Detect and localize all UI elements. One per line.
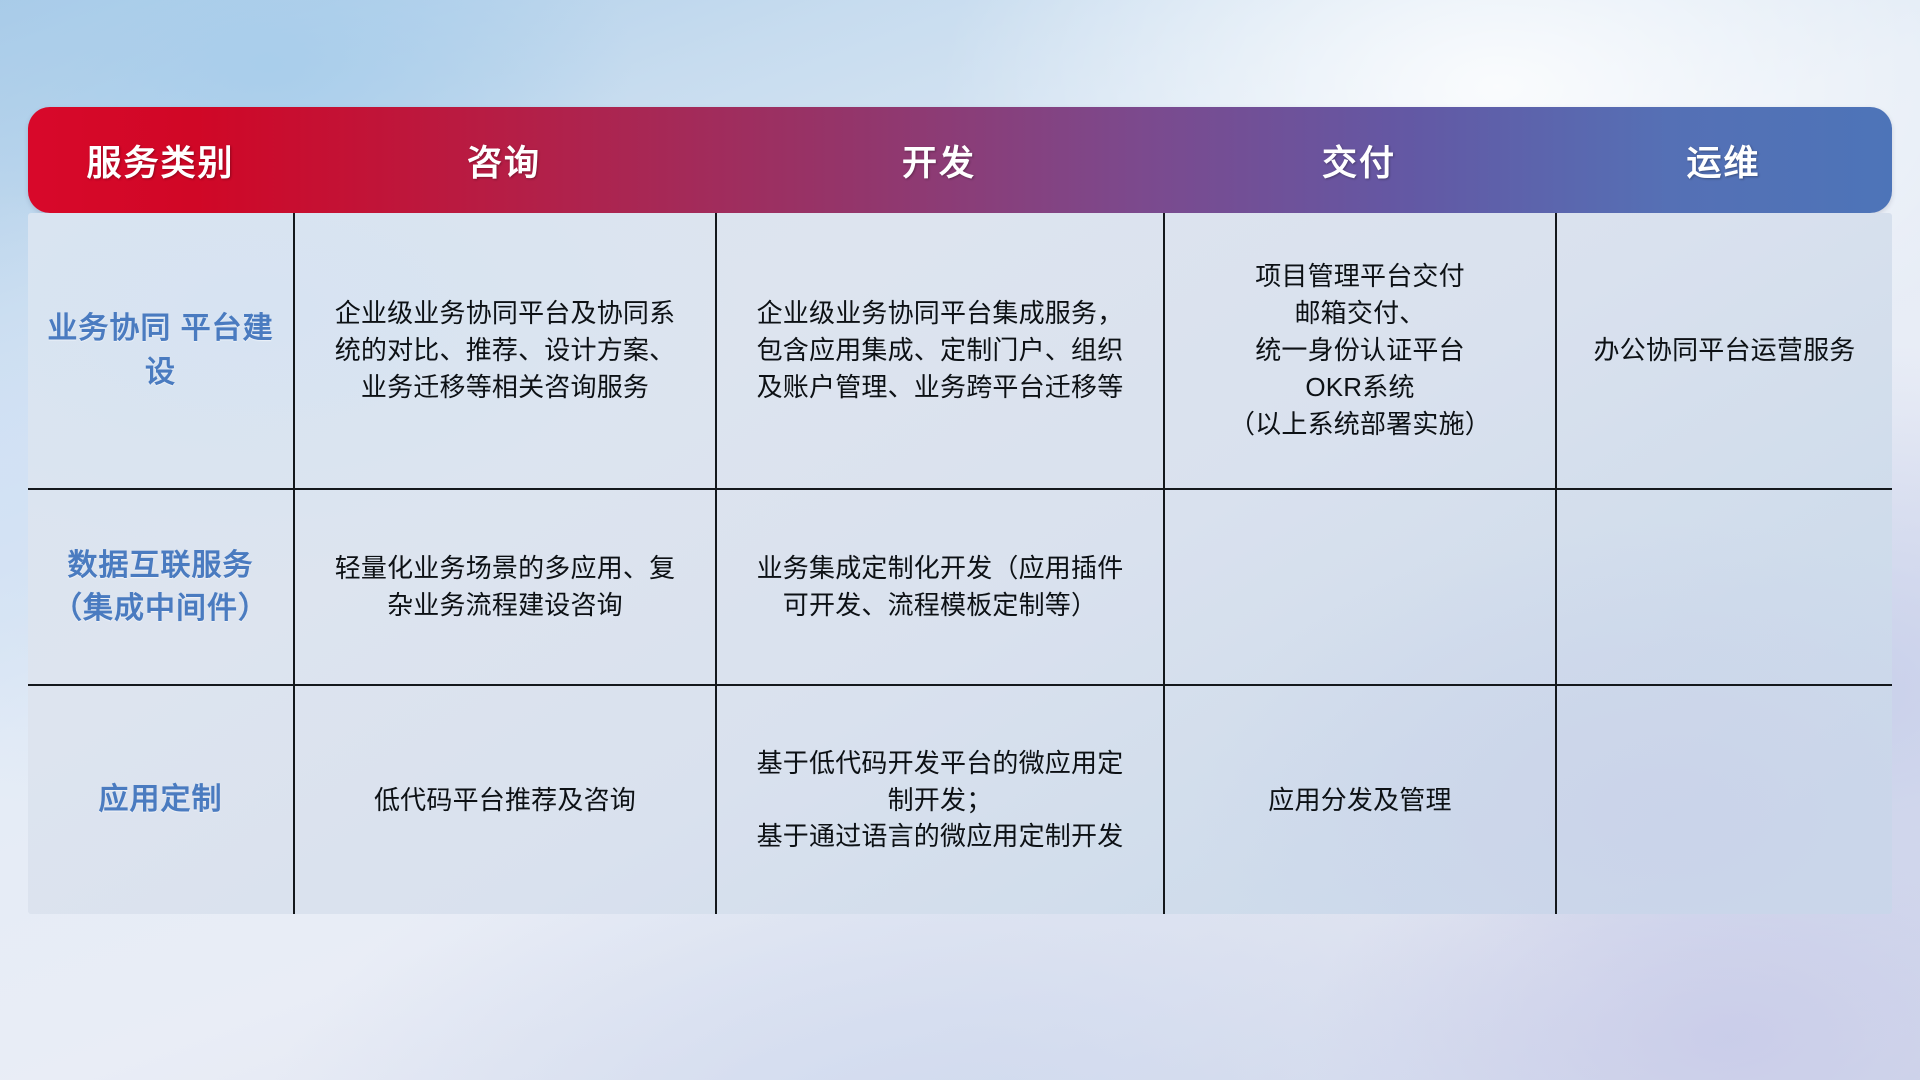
cell-operations: 办公协同平台运营服务 [1555, 213, 1892, 488]
cell-development: 业务集成定制化开发（应用插件 可开发、流程模板定制等） [715, 490, 1163, 684]
cell-operations [1555, 490, 1892, 684]
cell-delivery: 应用分发及管理 [1163, 686, 1555, 914]
table-row: 数据互联服务 （集成中间件） 轻量化业务场景的多应用、复 杂业务流程建设咨询 业… [28, 488, 1892, 684]
column-header-consulting: 咨询 [293, 129, 715, 192]
service-matrix-table: 服务类别 咨询 开发 交付 运维 业务协同 平台建设 企业级业务协同平台及协同系… [28, 107, 1892, 914]
cell-development: 企业级业务协同平台集成服务， 包含应用集成、定制门户、组织 及账户管理、业务跨平… [715, 213, 1163, 488]
table-row: 业务协同 平台建设 企业级业务协同平台及协同系 统的对比、推荐、设计方案、 业务… [28, 213, 1892, 488]
column-header-development: 开发 [715, 129, 1163, 192]
column-header-delivery: 交付 [1163, 129, 1555, 192]
row-category-label: 应用定制 [28, 686, 293, 914]
column-header-operations: 运维 [1555, 129, 1892, 192]
cell-consulting: 低代码平台推荐及咨询 [293, 686, 715, 914]
row-category-label: 业务协同 平台建设 [28, 213, 293, 488]
cell-operations [1555, 686, 1892, 914]
table-header-row: 服务类别 咨询 开发 交付 运维 [28, 107, 1892, 213]
cell-delivery [1163, 490, 1555, 684]
cell-development: 基于低代码开发平台的微应用定 制开发； 基于通过语言的微应用定制开发 [715, 686, 1163, 914]
cell-consulting: 轻量化业务场景的多应用、复 杂业务流程建设咨询 [293, 490, 715, 684]
cell-consulting: 企业级业务协同平台及协同系 统的对比、推荐、设计方案、 业务迁移等相关咨询服务 [293, 213, 715, 488]
cell-delivery: 项目管理平台交付 邮箱交付、 统一身份认证平台 OKR系统 （以上系统部署实施） [1163, 213, 1555, 488]
table-body: 业务协同 平台建设 企业级业务协同平台及协同系 统的对比、推荐、设计方案、 业务… [28, 213, 1892, 914]
row-category-label: 数据互联服务 （集成中间件） [28, 490, 293, 684]
table-row: 应用定制 低代码平台推荐及咨询 基于低代码开发平台的微应用定 制开发； 基于通过… [28, 684, 1892, 914]
column-header-service-category: 服务类别 [28, 129, 293, 192]
